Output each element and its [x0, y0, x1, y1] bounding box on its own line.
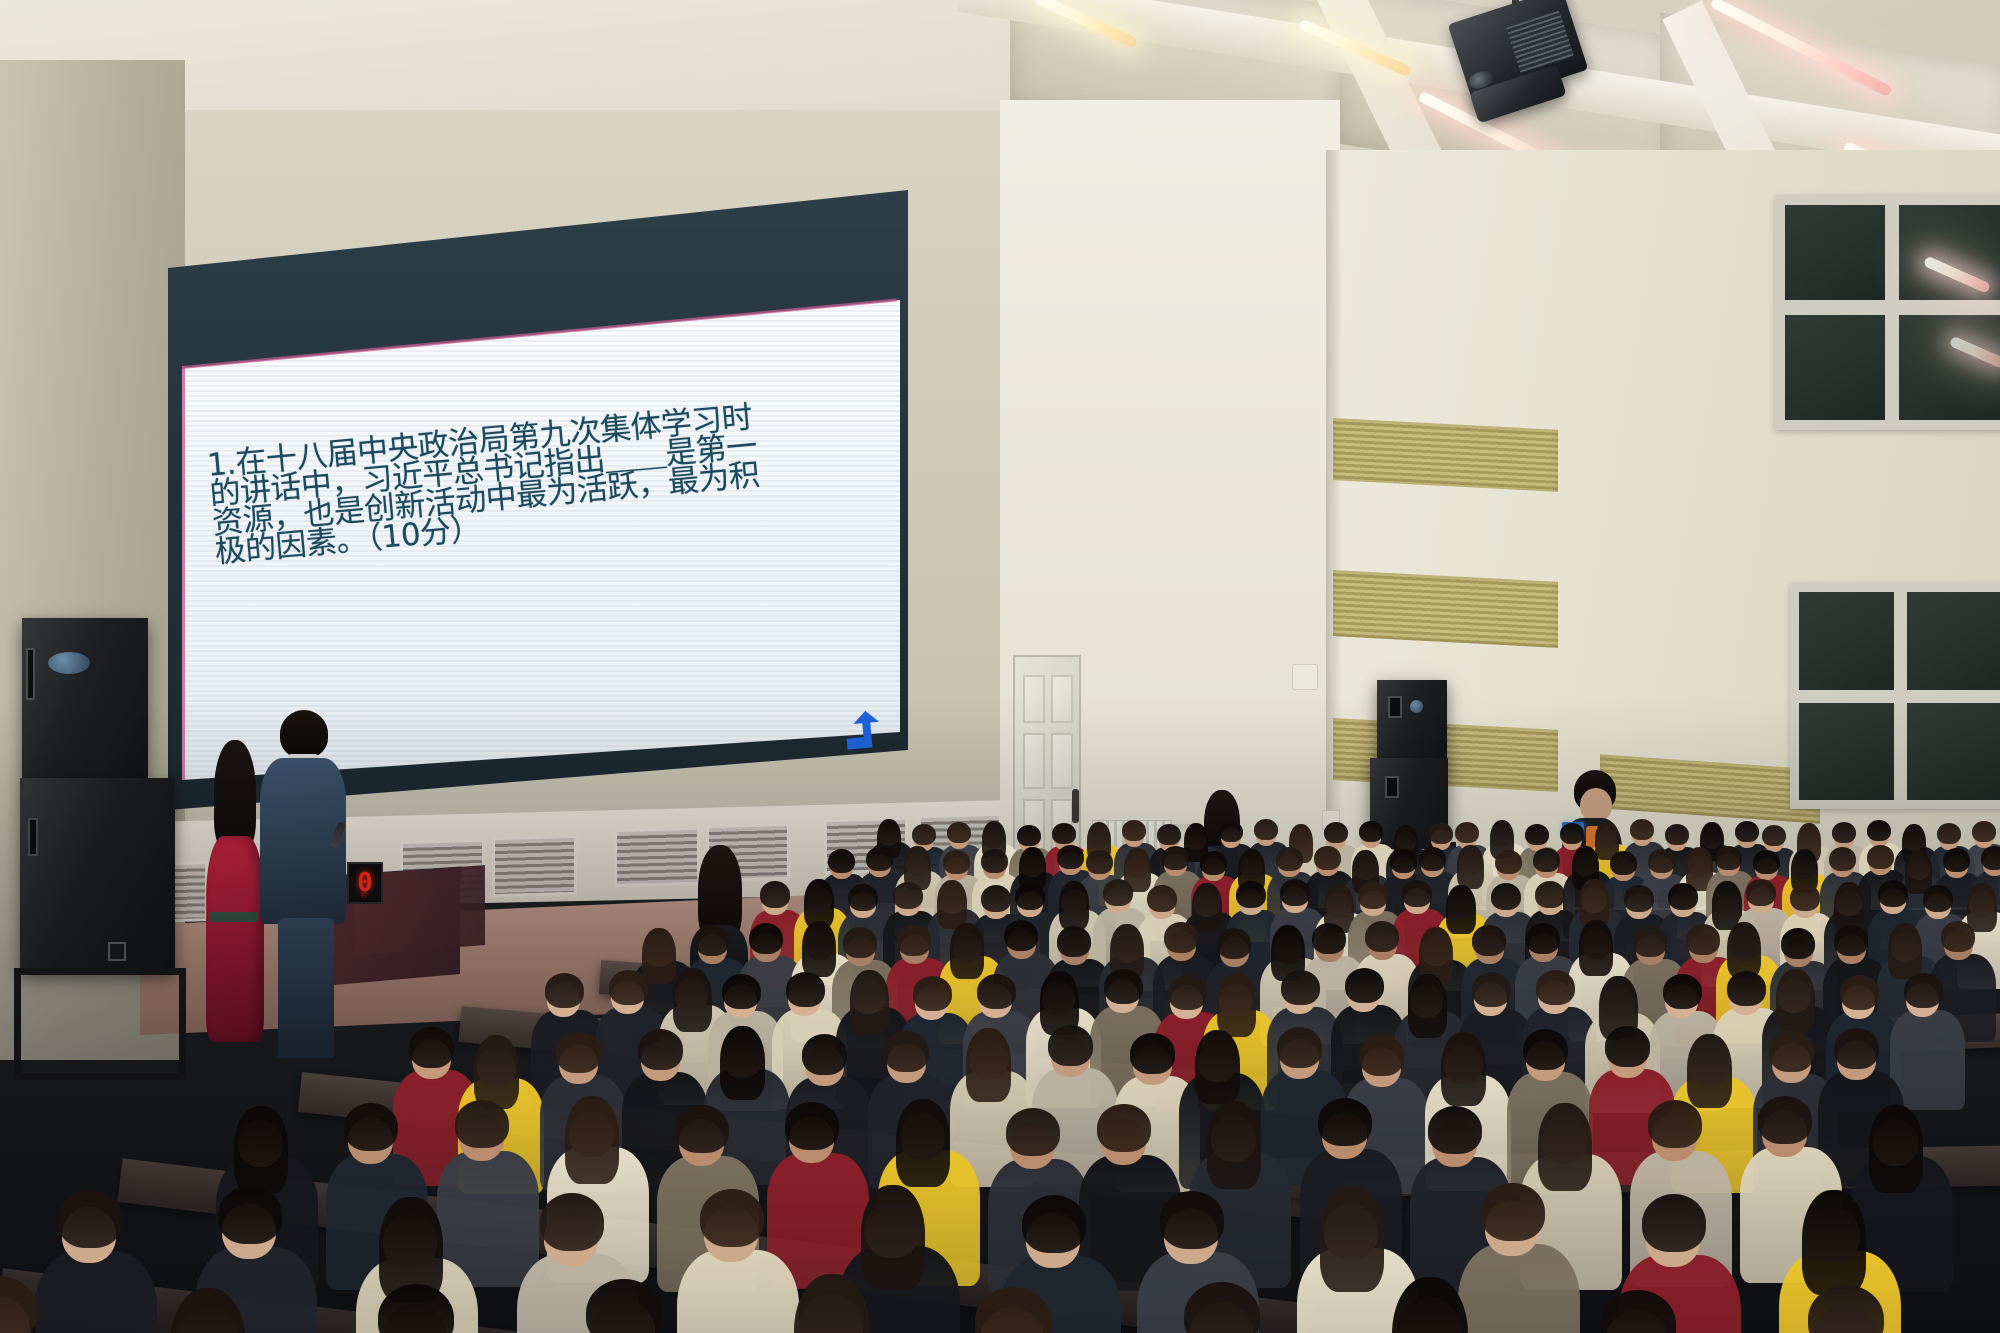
- audience-member-hair: [1525, 824, 1549, 845]
- wood-slat-acoustic-panel-2: [1333, 570, 1558, 648]
- audience-member-hair: [1923, 885, 1953, 912]
- audience-member-hair: [802, 1034, 847, 1075]
- audience-member-hair: [1715, 846, 1742, 870]
- audience-member-hair: [1538, 1103, 1592, 1191]
- audience-member-hair: [1630, 819, 1654, 840]
- audience-member-hair: [1869, 1105, 1923, 1193]
- audience-member-hair: [1758, 1096, 1812, 1144]
- audience-member-hair: [1457, 845, 1484, 889]
- audience-member-hair: [1207, 1101, 1261, 1189]
- audience-member-hair: [1727, 922, 1761, 978]
- audience-member-hair: [234, 1106, 288, 1194]
- audience-member: [167, 1288, 311, 1333]
- wall-switch-plate: [1292, 664, 1318, 690]
- audience-member-hair: [1746, 879, 1776, 906]
- speaker-handle-left-top: [26, 648, 35, 700]
- audience-member: [583, 1279, 727, 1333]
- audience-member-hair: [1097, 1104, 1151, 1152]
- speaker-badge-left: [48, 652, 90, 674]
- audience-member-hair: [1536, 970, 1575, 1005]
- speaker-port-right-bottom: [1385, 776, 1399, 798]
- audience-member-hair: [1523, 1029, 1568, 1070]
- audience-member-hair: [1867, 845, 1894, 869]
- pa-speaker-stack-right-top: [1377, 680, 1447, 766]
- audience-member-hair: [760, 881, 790, 908]
- audience-member-hair: [975, 1287, 1051, 1333]
- audience-member-hair: [675, 1105, 729, 1153]
- audience-member-hair: [794, 1274, 870, 1333]
- audience-member-hair: [981, 885, 1011, 912]
- window-pane-d: [1899, 315, 2000, 420]
- audience-member-hair: [1867, 820, 1891, 841]
- presenter-man-hair: [280, 710, 328, 758]
- audience-member-hair: [1981, 846, 2000, 870]
- audience-member-hair: [1365, 921, 1399, 952]
- audience-member-hair: [1392, 1277, 1468, 1333]
- audience-member-hair: [1358, 882, 1388, 909]
- audience-member-hair: [786, 972, 825, 1007]
- audience-member-hair: [1686, 924, 1720, 955]
- audience-member-hair: [1888, 923, 1922, 979]
- audience-member-hair: [638, 1029, 683, 1070]
- audience-member-hair: [896, 1099, 950, 1187]
- audience-member-hair: [1320, 1187, 1384, 1292]
- audience-member-hair: [913, 976, 952, 1011]
- audience-member-hair: [1103, 879, 1133, 906]
- audience-member-hair: [1781, 928, 1815, 959]
- lecture-hall-photo: 1.在十八届中央政治局第九次集体学习时 的讲话中，习近平总书记指出＿＿是第一 资…: [0, 0, 2000, 1333]
- audience-member-hair: [1769, 1031, 1814, 1072]
- audience-member-hair: [977, 974, 1016, 1009]
- audience-member-hair: [1281, 970, 1320, 1005]
- audience-member-hair: [695, 925, 729, 956]
- audience-member-hair: [848, 884, 878, 911]
- audience-member-hair: [1195, 1030, 1240, 1104]
- audience-member-hair: [1829, 847, 1856, 871]
- audience-member-hair: [1808, 1285, 1884, 1333]
- audience-member: [791, 1274, 935, 1333]
- audience-member-hair: [1495, 850, 1522, 874]
- audience-member-hair: [1162, 846, 1189, 870]
- audience-member-hair: [1633, 926, 1667, 957]
- audience-member-hair: [556, 1032, 601, 1073]
- audience-member-hair: [1832, 822, 1856, 843]
- audience-member-hair: [720, 1026, 765, 1100]
- audience-member-hair: [1535, 881, 1565, 908]
- audience-member-hair: [1455, 822, 1479, 843]
- audience-member-hair: [540, 1193, 604, 1251]
- audience-member: [1389, 1277, 1533, 1333]
- audience-member-hair: [1130, 1033, 1175, 1074]
- audience-member-hair: [1776, 969, 1815, 1033]
- audience-member-hair: [893, 882, 923, 909]
- audience-member-hair: [1663, 974, 1702, 1009]
- audience-member-hair: [1937, 823, 1961, 844]
- audience-member-hair: [1428, 1106, 1482, 1154]
- audience-member-hair: [1834, 925, 1868, 956]
- audience-member-hair: [1015, 883, 1045, 910]
- audience-member-hair: [1600, 1290, 1676, 1333]
- audience-member-hair: [1200, 851, 1227, 875]
- audience-member-hair: [565, 1096, 619, 1184]
- audience-member-hair: [378, 1284, 454, 1333]
- audience-member-hair: [1762, 825, 1786, 846]
- audience-member-hair: [1834, 882, 1864, 931]
- audience-member-hair: [409, 1027, 454, 1068]
- audience-member-hair: [1802, 1190, 1866, 1295]
- audience-member-hair: [1668, 883, 1698, 910]
- audience-member-hair: [866, 847, 893, 871]
- audience-member-hair: [1217, 928, 1251, 959]
- screen-edge-left: [182, 366, 185, 780]
- pa-speaker-stack-left-top: [22, 618, 148, 778]
- audience-member-hair: [1318, 1098, 1372, 1146]
- audience-member-hair: [1941, 921, 1975, 952]
- audience-member-hair: [1610, 851, 1637, 875]
- exterior-window-lower: [1790, 583, 2000, 809]
- audience-member-hair: [785, 1102, 839, 1150]
- audience-member-hair: [1735, 821, 1759, 842]
- audience-member-hair: [749, 923, 783, 954]
- audience-member-hair: [947, 822, 971, 843]
- window-pane-a: [1785, 205, 1885, 300]
- blue-up-arrow-icon: [840, 708, 889, 754]
- audience-crowd: [0, 820, 2000, 1333]
- audience-member-hair: [1122, 820, 1146, 841]
- door-panel-mid-right: [1051, 733, 1073, 789]
- audience-member-hair: [1057, 926, 1091, 957]
- audience-member-hair: [1790, 884, 1820, 911]
- audience-member-hair: [1402, 880, 1432, 907]
- audience-member-hair: [1624, 885, 1654, 912]
- audience-member-hair: [1086, 850, 1113, 874]
- audience-member-hair: [700, 1189, 764, 1247]
- door-handle[interactable]: [1072, 789, 1079, 823]
- wall-corner-shadow: [1326, 150, 1342, 910]
- speaker-badge-right: [1410, 700, 1423, 713]
- audience-member: [0, 1276, 102, 1333]
- audience-member: [1181, 1282, 1325, 1333]
- wood-slat-acoustic-panel-1: [1333, 418, 1558, 492]
- audience-member-hair: [1280, 879, 1310, 906]
- audience-member-hair: [1219, 821, 1243, 842]
- audience-member-hair: [1359, 1035, 1404, 1076]
- audience-member-hair: [1491, 883, 1521, 910]
- audience-member-hair: [1276, 847, 1303, 871]
- audience-member-hair: [1408, 974, 1447, 1038]
- audience-member-hair: [455, 1100, 509, 1148]
- filming-person-head: [1580, 788, 1612, 822]
- audience-member-hair: [1104, 969, 1143, 1004]
- audience-member-hair: [1164, 922, 1198, 953]
- audience-member-hair: [1429, 823, 1453, 844]
- blue-up-arrow-logo: [840, 708, 889, 754]
- window-pane-h: [1907, 703, 2000, 800]
- audience-member-hair: [722, 974, 761, 1009]
- audience-member-hair: [1324, 822, 1348, 843]
- audience-member-hair: [545, 973, 584, 1008]
- audience-member-hair: [943, 850, 970, 874]
- audience-member-hair: [850, 970, 889, 1034]
- audience-member-hair: [1345, 968, 1384, 1003]
- audience-member-hair: [1419, 847, 1446, 871]
- audience-member-hair: [937, 880, 967, 929]
- audience-member-hair: [1481, 1183, 1545, 1241]
- audience-member-hair: [1168, 975, 1207, 1010]
- audience-member-hair: [1579, 920, 1613, 976]
- audience-member-hair: [1312, 923, 1346, 954]
- audience-member-hair: [1441, 1032, 1486, 1106]
- audience-member-hair: [912, 824, 936, 845]
- audience-member-hair: [897, 925, 931, 956]
- audience-member-hair: [1160, 1191, 1224, 1249]
- audience-member-hair: [884, 1031, 929, 1072]
- audience-member-hair: [58, 1190, 122, 1248]
- audience-member-hair: [1472, 972, 1511, 1007]
- audience-member-hair: [1943, 848, 1970, 872]
- door-panel-top-right: [1051, 675, 1073, 723]
- window-pane-e: [1799, 592, 1894, 690]
- audience-member-hair: [1184, 1282, 1260, 1333]
- audience-member-hair: [1904, 973, 1943, 1008]
- audience-member-hair: [1665, 824, 1689, 845]
- door-panel-top-left: [1023, 675, 1045, 723]
- audience-member-hair: [0, 1276, 37, 1333]
- audience-member-hair: [1022, 1195, 1086, 1253]
- audience-member-hair: [344, 1103, 398, 1151]
- audience-member-hair: [1840, 975, 1879, 1010]
- audience-member: [1597, 1290, 1741, 1333]
- window-pane-f: [1907, 592, 2000, 690]
- audience-member-hair: [218, 1186, 282, 1244]
- audience-member-hair: [950, 923, 984, 979]
- audience-member-hair: [586, 1279, 662, 1333]
- audience-member-hair: [1878, 880, 1908, 907]
- audience-member-hair: [1314, 846, 1341, 870]
- audience-member-hair: [1605, 1026, 1650, 1067]
- audience-member-hair: [1236, 881, 1266, 908]
- audience-member-hair: [1648, 1100, 1702, 1148]
- audience-member-hair: [1004, 920, 1038, 951]
- audience-member-hair: [609, 970, 648, 1005]
- audience-member-hair: [1277, 1027, 1322, 1068]
- audience-member-hair: [474, 1035, 519, 1109]
- door-panel-mid-left: [1023, 733, 1045, 789]
- audience-member: [972, 1287, 1116, 1333]
- audience-member-hair: [966, 1028, 1011, 1102]
- exterior-window-upper: [1775, 195, 2000, 430]
- audience-member-hair: [843, 927, 877, 958]
- audience-member-hair: [1642, 1194, 1706, 1252]
- audience-member-hair: [1533, 848, 1560, 872]
- audience-member-hair: [673, 968, 712, 1032]
- audience-member-hair: [1006, 1108, 1060, 1156]
- audience-member-hair: [1052, 823, 1076, 844]
- audience-member: [375, 1284, 519, 1333]
- audience-member-hair: [1648, 849, 1675, 873]
- audience-member-hair: [1687, 1034, 1732, 1108]
- window-pane-c: [1785, 315, 1885, 420]
- audience-member-hair: [1390, 849, 1417, 873]
- audience-member-hair: [1359, 821, 1383, 842]
- audience-member-hair: [1147, 885, 1177, 912]
- audience-member-hair: [1972, 821, 1996, 842]
- audience-member-hair: [1472, 925, 1506, 956]
- audience-member-hair: [1017, 825, 1041, 846]
- window-pane-g: [1799, 703, 1894, 800]
- audience-member-hair: [802, 921, 836, 977]
- audience-member-hair: [1217, 973, 1256, 1037]
- audience-member-hair: [1057, 845, 1084, 869]
- audience-member-hair: [1048, 1025, 1093, 1066]
- speaker-port-right-top: [1388, 696, 1402, 718]
- audience-member: [1805, 1285, 1949, 1333]
- audience-member-hair: [1560, 823, 1584, 844]
- audience-member-hair: [1727, 971, 1766, 1006]
- audience-member-hair: [1526, 923, 1560, 954]
- audience-member-hair: [828, 849, 855, 873]
- audience-member-hair: [1157, 824, 1181, 845]
- audience-member-hair: [1753, 850, 1780, 874]
- audience-member-hair: [170, 1288, 246, 1333]
- audience-member-hair: [1254, 819, 1278, 840]
- audience-member-hair: [1834, 1028, 1879, 1069]
- audience-member-hair: [981, 849, 1008, 873]
